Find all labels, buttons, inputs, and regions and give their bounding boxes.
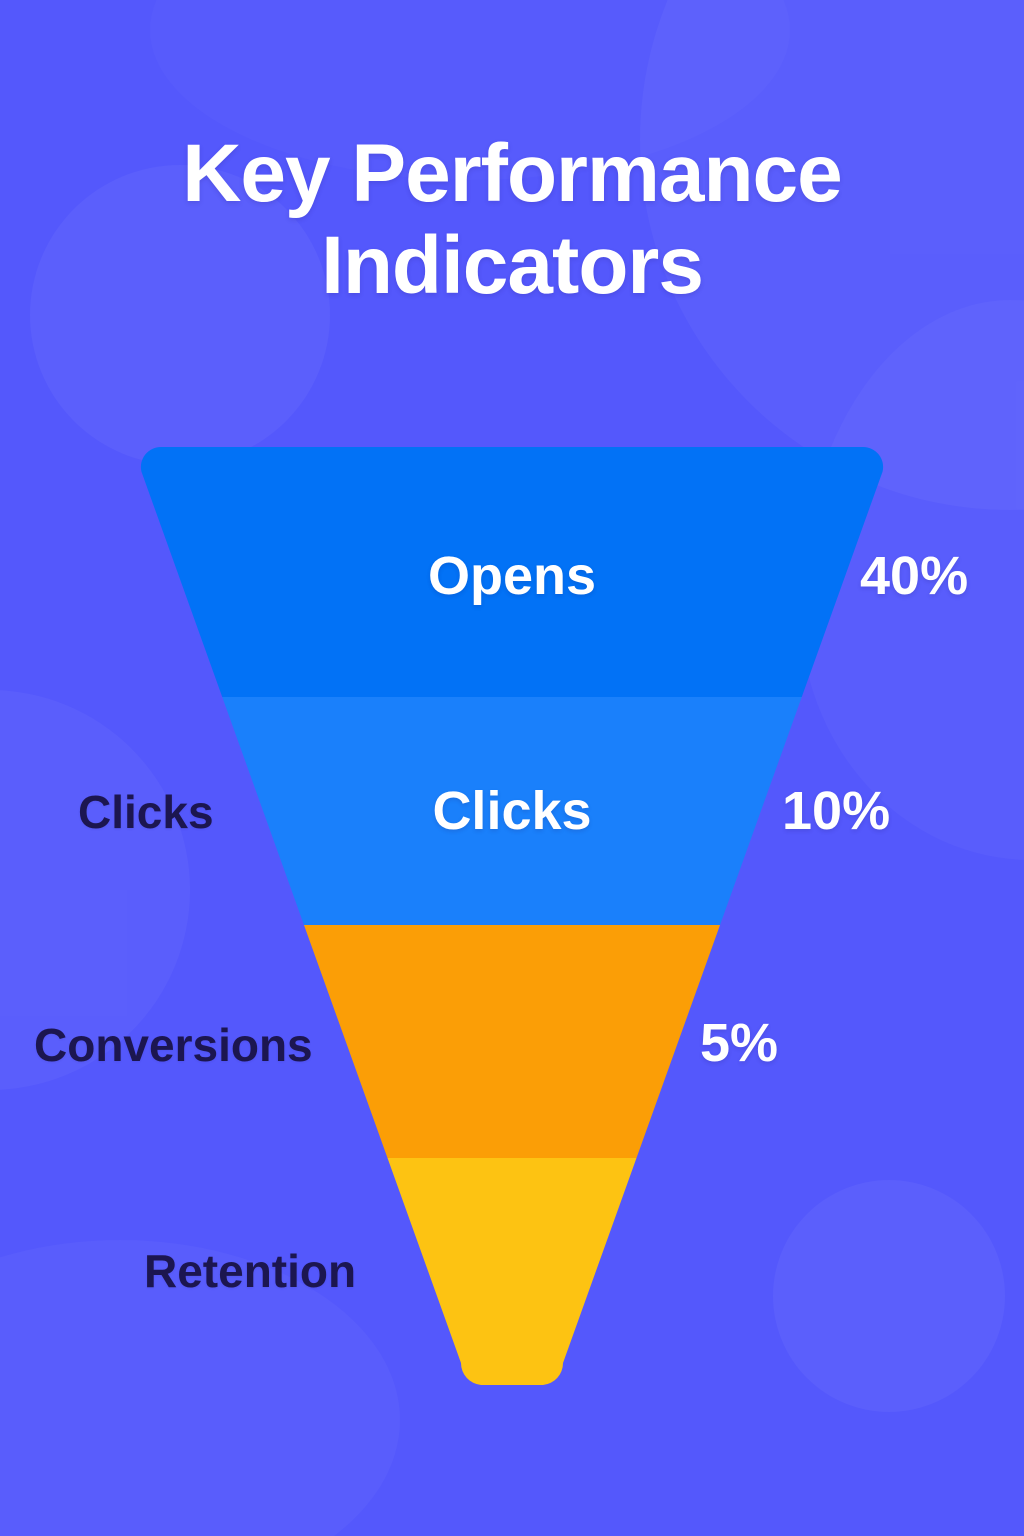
infographic-canvas: Key Performance Indicators <box>0 0 1024 1536</box>
funnel-svg <box>0 0 1024 1536</box>
funnel-chart: Opens Clicks 40% 10% 5% Clicks Conversio… <box>0 0 1024 1536</box>
funnel-side-label-clicks: Clicks <box>78 785 214 839</box>
funnel-percentage-conversions: 5% <box>700 1012 778 1074</box>
funnel-percentage-opens: 40% <box>860 545 968 607</box>
funnel-percentage-clicks: 10% <box>782 780 890 842</box>
funnel-side-label-retention: Retention <box>144 1244 356 1298</box>
funnel-side-label-conversions: Conversions <box>34 1018 313 1072</box>
